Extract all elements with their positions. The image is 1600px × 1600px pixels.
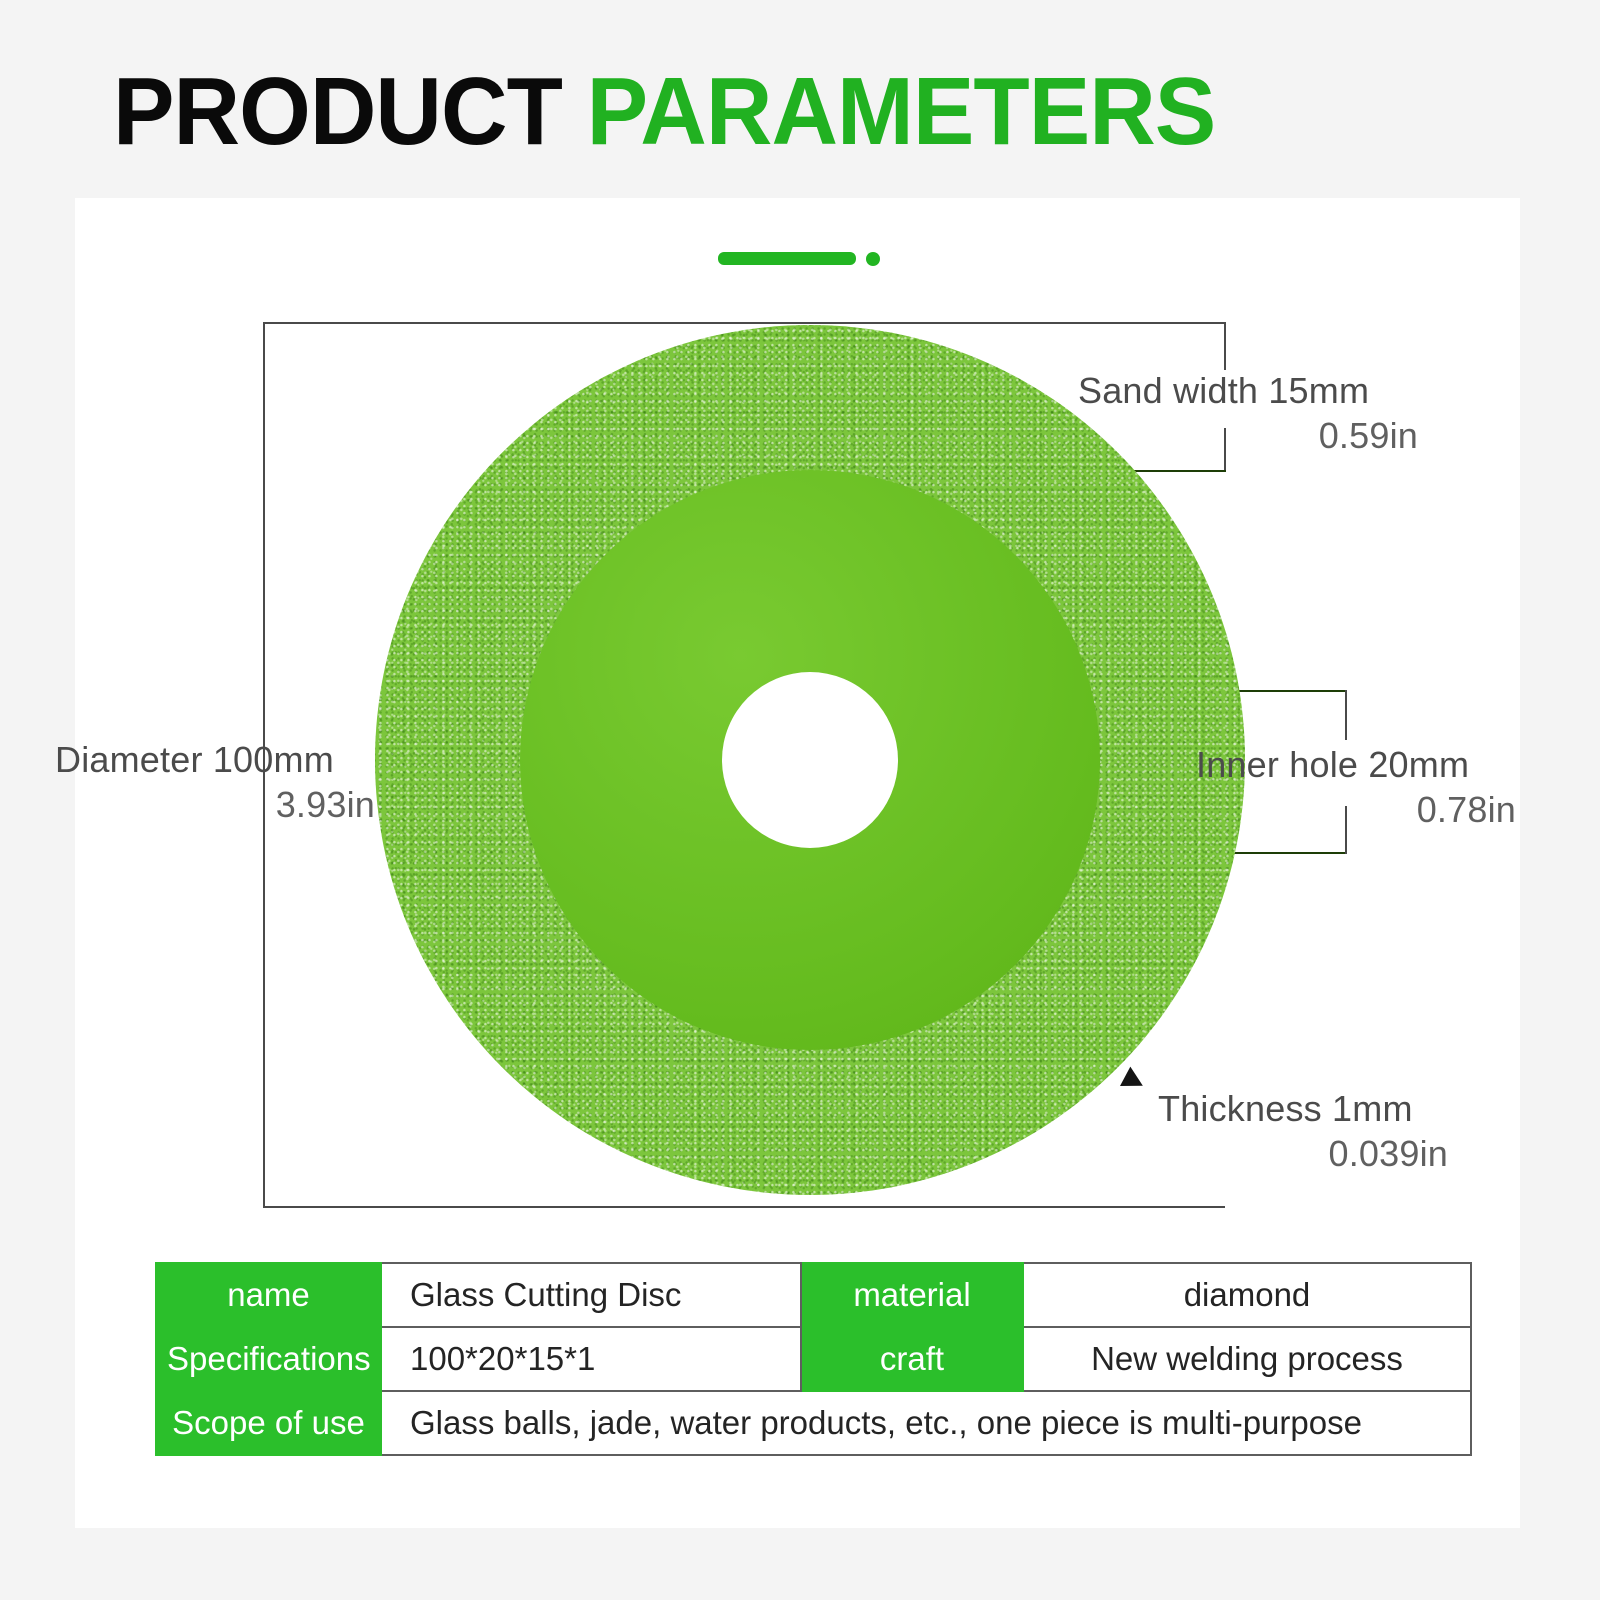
- annotation-thickness: Thickness 1mm 0.039in: [1158, 1086, 1448, 1177]
- specification-table: name Glass Cutting Disc material diamond…: [155, 1262, 1472, 1456]
- annotation-sand-width: Sand width 15mm 0.59in: [1078, 368, 1418, 459]
- annotation-sand-width-primary: Sand width 15mm: [1078, 368, 1418, 413]
- page-title-green: PARAMETERS: [562, 58, 1215, 165]
- spec-key-name: name: [156, 1263, 381, 1327]
- disc-center-hole: [722, 672, 898, 848]
- spec-key-material: material: [801, 1263, 1023, 1327]
- spec-value-craft: New welding process: [1023, 1327, 1471, 1391]
- inner-hole-bracket-upper: [1345, 690, 1347, 740]
- page-title: PRODUCT PARAMETERS: [113, 64, 1215, 160]
- spec-value-material: diamond: [1023, 1263, 1471, 1327]
- table-row: Specifications 100*20*15*1 craft New wel…: [156, 1327, 1471, 1391]
- annotation-inner-hole-primary: Inner hole 20mm: [1196, 742, 1516, 787]
- annotation-inner-hole-secondary: 0.78in: [1196, 787, 1516, 832]
- annotation-diameter-primary: Diameter 100mm: [55, 737, 375, 782]
- spec-value-scope-of-use: Glass balls, jade, water products, etc.,…: [381, 1391, 1471, 1455]
- page-title-dark: PRODUCT: [113, 58, 562, 165]
- annotation-diameter-secondary: 3.93in: [55, 782, 375, 827]
- annotation-diameter: Diameter 100mm 3.93in: [55, 737, 375, 828]
- spec-value-specifications: 100*20*15*1: [381, 1327, 801, 1391]
- annotation-thickness-primary: Thickness 1mm: [1158, 1086, 1448, 1131]
- spec-key-scope-of-use: Scope of use: [156, 1391, 381, 1455]
- annotation-thickness-secondary: 0.039in: [1158, 1131, 1448, 1176]
- spec-value-name: Glass Cutting Disc: [381, 1263, 801, 1327]
- decorative-bar: [718, 252, 856, 265]
- card-background-notch: [1520, 198, 1600, 648]
- diameter-bracket-bottom: [263, 1206, 1225, 1208]
- table-row: name Glass Cutting Disc material diamond: [156, 1263, 1471, 1327]
- annotation-sand-width-secondary: 0.59in: [1078, 413, 1418, 458]
- spec-key-craft: craft: [801, 1327, 1023, 1391]
- decorative-dot-icon: [866, 252, 880, 266]
- spec-key-specifications: Specifications: [156, 1327, 381, 1391]
- annotation-inner-hole: Inner hole 20mm 0.78in: [1196, 742, 1516, 833]
- table-row: Scope of use Glass balls, jade, water pr…: [156, 1391, 1471, 1455]
- diameter-bracket-top: [263, 322, 1225, 324]
